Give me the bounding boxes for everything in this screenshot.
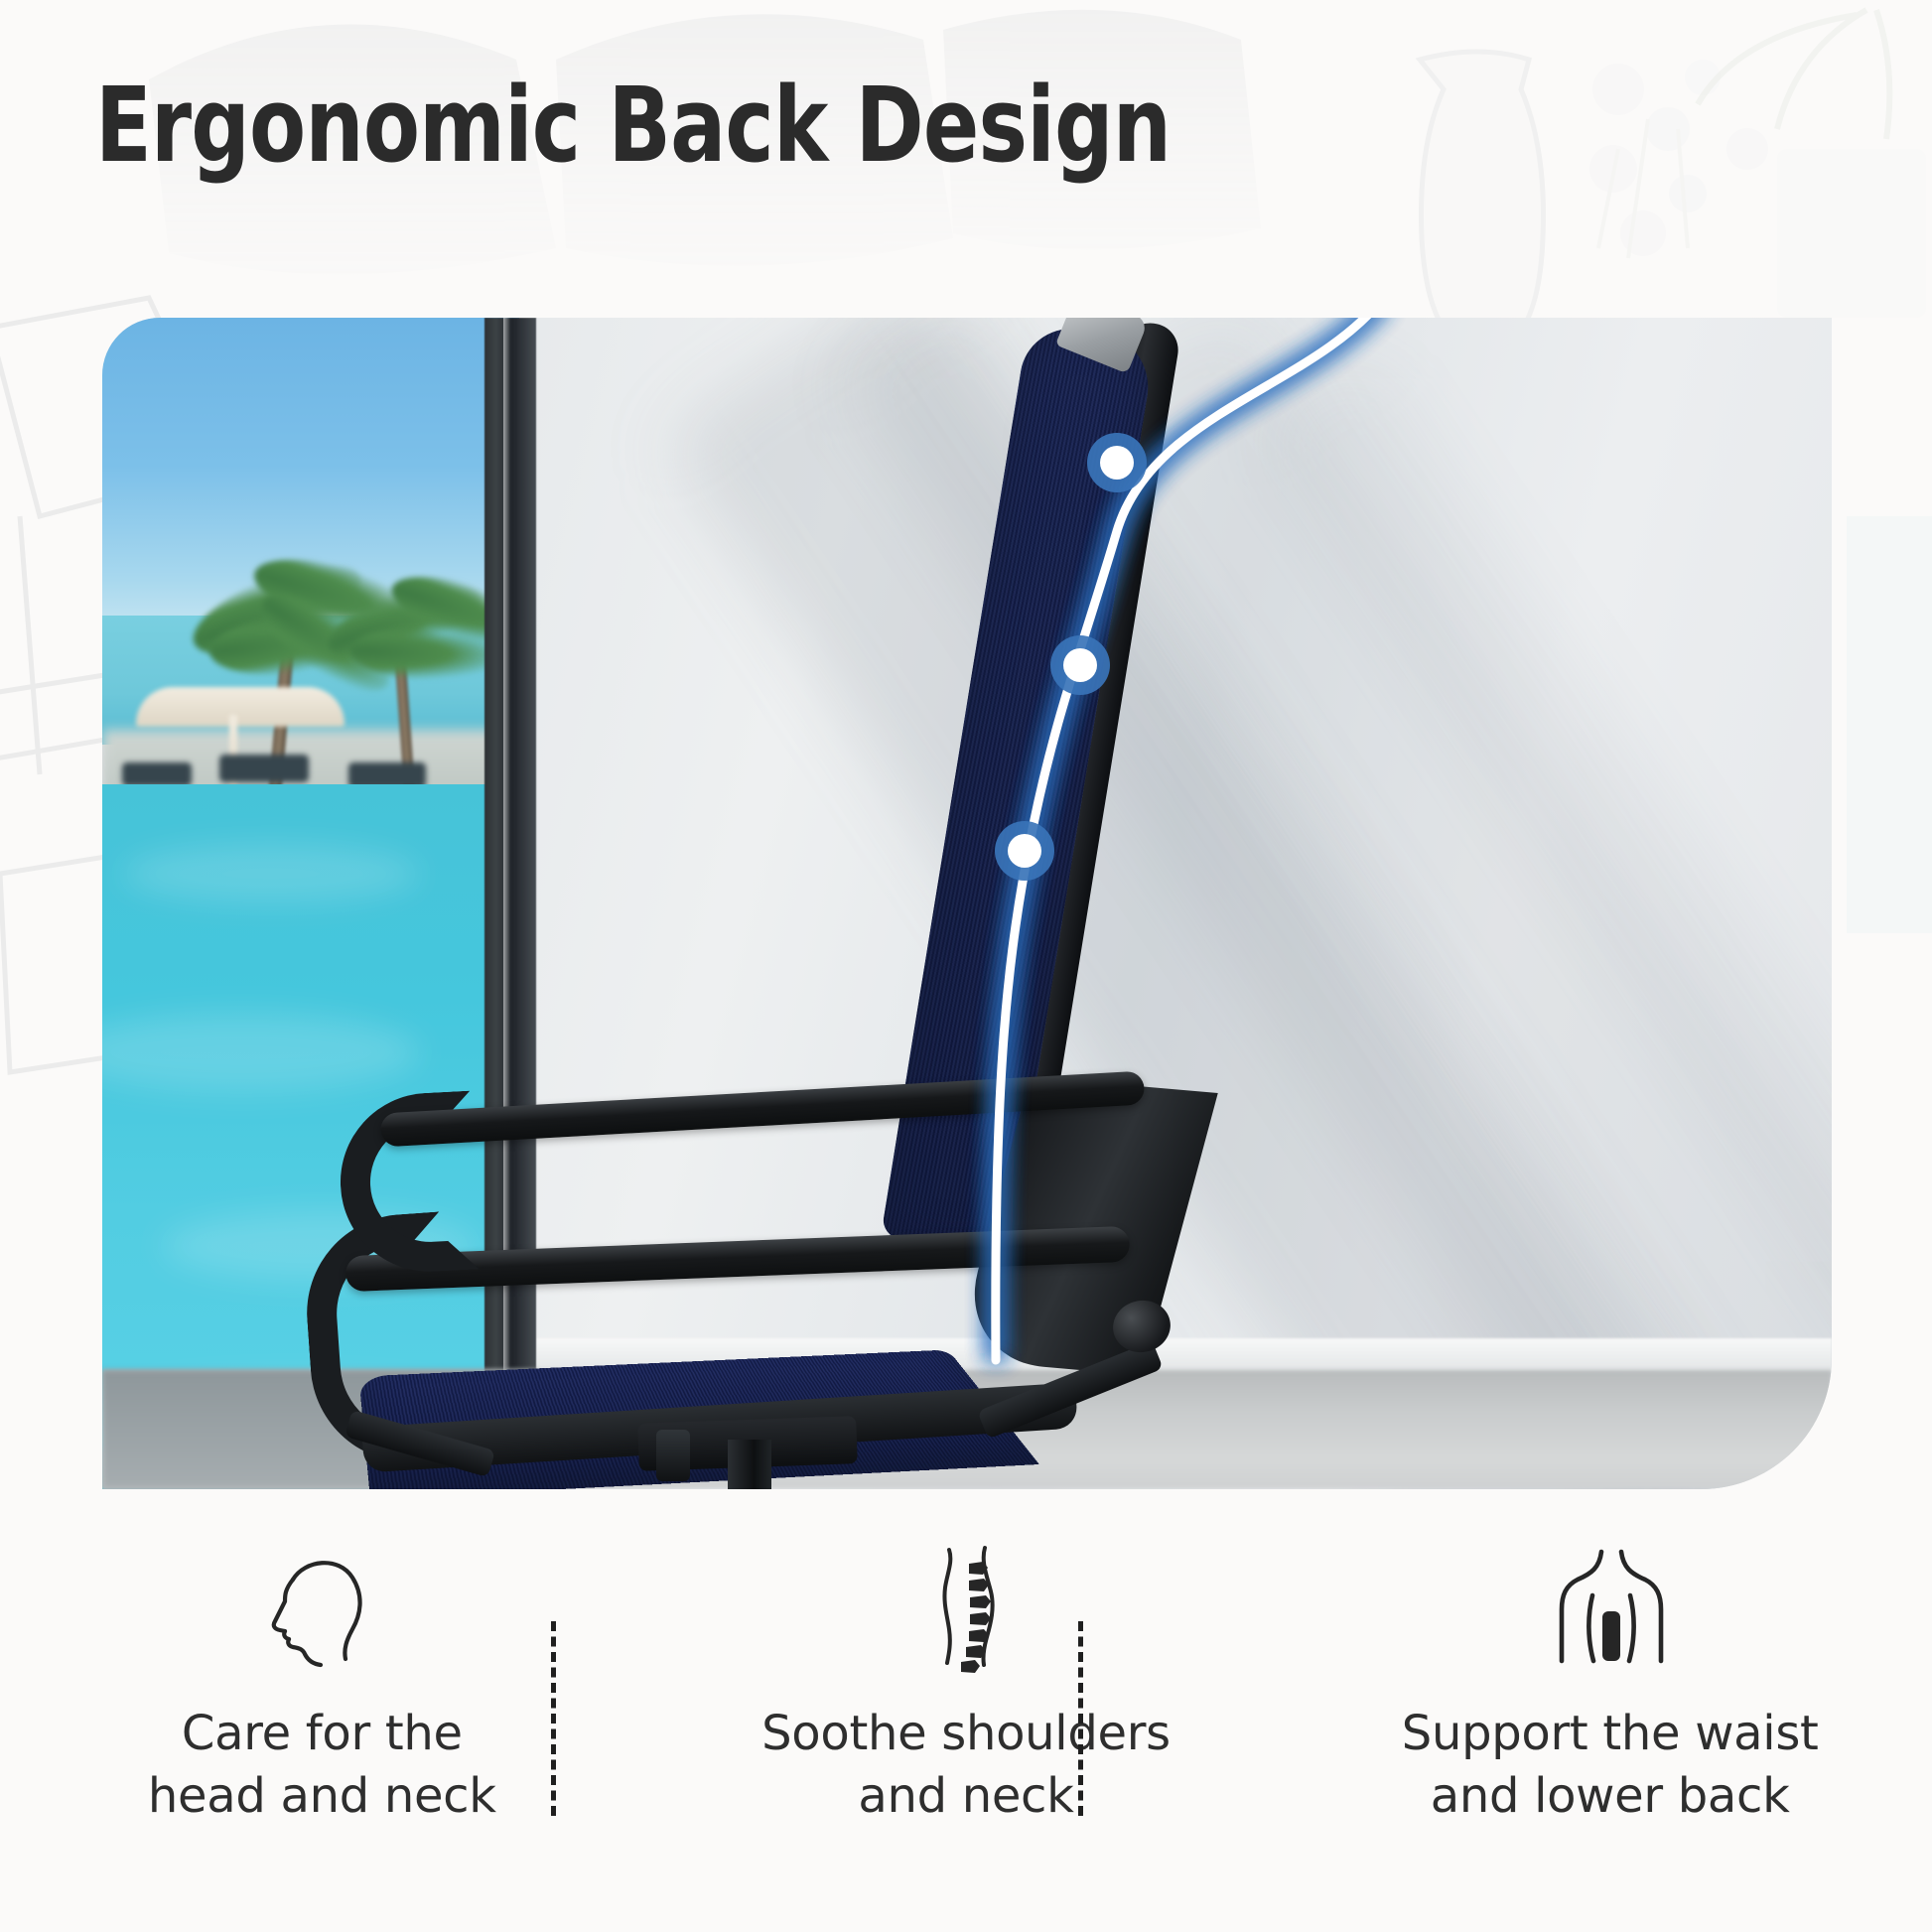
feature-caption: Soothe shoulders and neck bbox=[761, 1703, 1171, 1829]
feature-divider bbox=[551, 1621, 556, 1816]
chair-backrest bbox=[897, 318, 1214, 1301]
feature-head-neck: Care for the head and neck bbox=[0, 1534, 644, 1911]
ergonomic-chair-photo bbox=[102, 318, 1832, 1489]
feature-shoulders-neck: Soothe shoulders and neck bbox=[644, 1534, 1289, 1911]
feature-benefits-row: Care for the head and neck Soo bbox=[0, 1534, 1932, 1911]
feature-waist-lower-back: Support the waist and lower back bbox=[1288, 1534, 1932, 1911]
spine-torso-icon bbox=[892, 1534, 1040, 1683]
chair-pedestal-column bbox=[728, 1440, 771, 1489]
head-profile-icon bbox=[247, 1534, 396, 1683]
back-lumbar-support-icon bbox=[1536, 1534, 1685, 1683]
header: Ergonomic Back Design bbox=[0, 0, 1932, 298]
feature-divider bbox=[1078, 1621, 1083, 1816]
page-title: Ergonomic Back Design bbox=[95, 71, 1171, 180]
chair-mechanism-bolt bbox=[656, 1430, 690, 1481]
feature-caption: Support the waist and lower back bbox=[1402, 1703, 1819, 1829]
patio-swivel-chair bbox=[102, 318, 1832, 1489]
feature-caption: Care for the head and neck bbox=[148, 1703, 496, 1829]
